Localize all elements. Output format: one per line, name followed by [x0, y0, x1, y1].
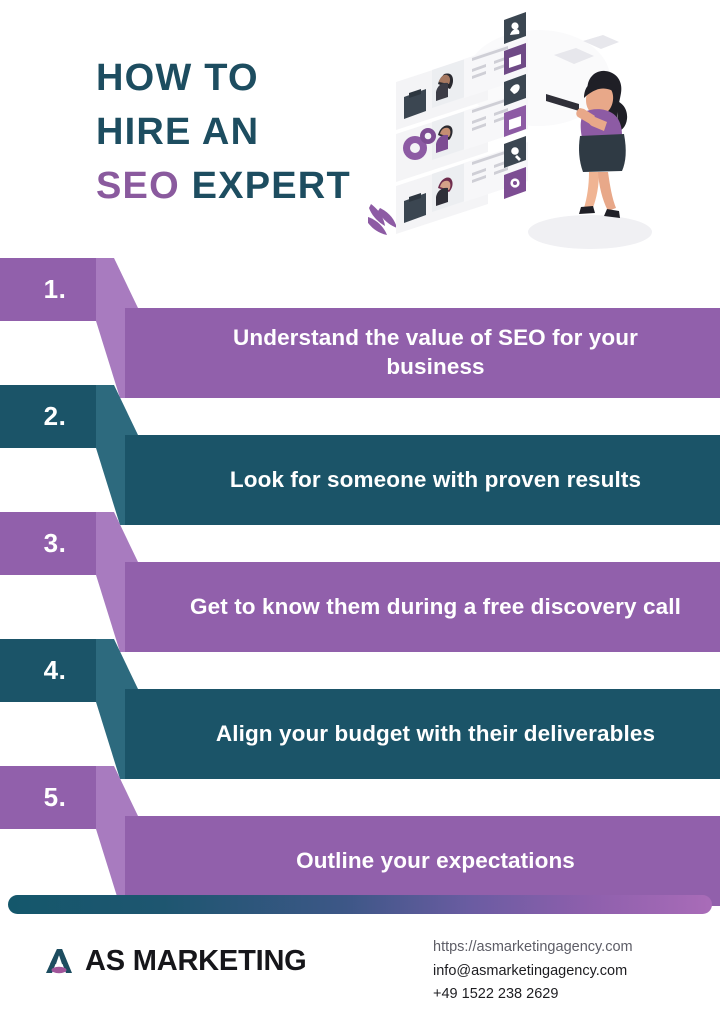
contact-phone[interactable]: +49 1522 238 2629	[433, 983, 713, 1007]
steps-list: 1. Understand the value of SEO for your …	[0, 255, 720, 875]
step-banner: Outline your expectations	[125, 816, 720, 906]
contact-email[interactable]: info@asmarketingagency.com	[433, 960, 713, 984]
title-line-2: HIRE AN	[96, 106, 396, 160]
step-number-tab: 1.	[0, 258, 96, 321]
step-number-tab: 4.	[0, 639, 96, 702]
title-word-expert: EXPERT	[192, 165, 351, 207]
step-number-tab: 5.	[0, 766, 96, 829]
hero-illustration	[368, 8, 720, 258]
step-item: 2. Look for someone with proven results	[0, 382, 720, 527]
step-number: 2.	[44, 401, 67, 432]
title-line-1: HOW TO	[96, 52, 396, 106]
footer-divider-bar	[8, 895, 712, 914]
step-number: 3.	[44, 528, 67, 559]
brand-lockup: AS MARKETING	[42, 944, 307, 978]
step-text: Understand the value of SEO for your bus…	[185, 324, 686, 382]
contact-website[interactable]: https://asmarketingagency.com	[433, 936, 713, 960]
step-number-tab: 2.	[0, 385, 96, 448]
step-item: 5. Outline your expectations	[0, 763, 720, 908]
step-item: 4. Align your budget with their delivera…	[0, 636, 720, 781]
leaf-decoration	[368, 204, 397, 235]
step-item: 1. Understand the value of SEO for your …	[0, 255, 720, 400]
step-number-tab: 3.	[0, 512, 96, 575]
page-title: HOW TO HIRE AN SEO EXPERT	[96, 52, 396, 214]
step-number: 4.	[44, 655, 67, 686]
infographic-poster: HOW TO HIRE AN SEO EXPERT	[0, 0, 720, 1018]
as-marketing-a-logo-icon	[42, 944, 76, 978]
step-number: 1.	[44, 274, 67, 305]
step-text: Get to know them during a free discovery…	[190, 593, 681, 622]
title-accent-seo: SEO	[96, 165, 180, 207]
footer: AS MARKETING https://asmarketingagency.c…	[0, 914, 720, 1018]
step-text: Look for someone with proven results	[230, 466, 641, 495]
contact-block: https://asmarketingagency.com info@asmar…	[433, 936, 713, 1007]
brand-name: AS MARKETING	[85, 945, 307, 978]
header: HOW TO HIRE AN SEO EXPERT	[0, 0, 720, 258]
title-line-3: SEO EXPERT	[96, 160, 396, 214]
step-number: 5.	[44, 782, 67, 813]
step-item: 3. Get to know them during a free discov…	[0, 509, 720, 654]
step-text: Outline your expectations	[296, 847, 575, 876]
step-text: Align your budget with their deliverable…	[216, 720, 655, 749]
